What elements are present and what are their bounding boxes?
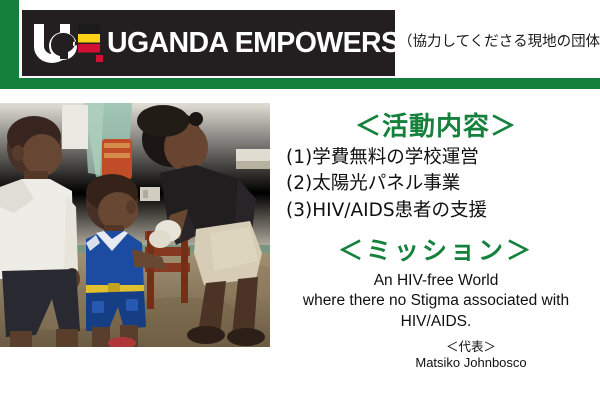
activities-list: (1)学費無料の学校運営 (2)太陽光パネル事業 (3)HIV/AIDS患者の支… xyxy=(272,145,600,224)
page-header: UGANDA EMPOWERS （協力してくださる現地の団体） xyxy=(0,0,600,92)
mission-heading: ＜ミッション＞ xyxy=(272,231,600,267)
signature-role: ＜代表＞ xyxy=(342,339,600,355)
uganda-empowers-logo-icon xyxy=(32,22,104,64)
list-item: (2)太陽光パネル事業 xyxy=(286,171,600,197)
mission-line: HIV/AIDS. xyxy=(272,312,600,333)
brand-logo-banner: UGANDA EMPOWERS xyxy=(22,10,395,76)
signature-name: Matsiko Johnbosco xyxy=(342,355,600,372)
mission-line: An HIV-free World xyxy=(272,271,600,292)
header-note-japanese: （協力してくださる現地の団体） xyxy=(398,30,600,51)
list-item: (3)HIV/AIDS患者の支援 xyxy=(286,198,600,224)
green-accent-bar-horizontal xyxy=(0,78,600,89)
content-column: ＜活動内容＞ (1)学費無料の学校運営 (2)太陽光パネル事業 (3)HIV/A… xyxy=(272,100,600,400)
list-item: (1)学費無料の学校運営 xyxy=(286,145,600,171)
mission-line: where there no Stigma associated with xyxy=(272,291,600,312)
program-photo xyxy=(0,103,270,347)
activities-heading: ＜活動内容＞ xyxy=(272,106,600,143)
brand-wordmark: UGANDA EMPOWERS xyxy=(107,29,399,58)
green-accent-bar-vertical xyxy=(0,0,19,89)
signature-block: ＜代表＞ Matsiko Johnbosco xyxy=(272,339,600,372)
